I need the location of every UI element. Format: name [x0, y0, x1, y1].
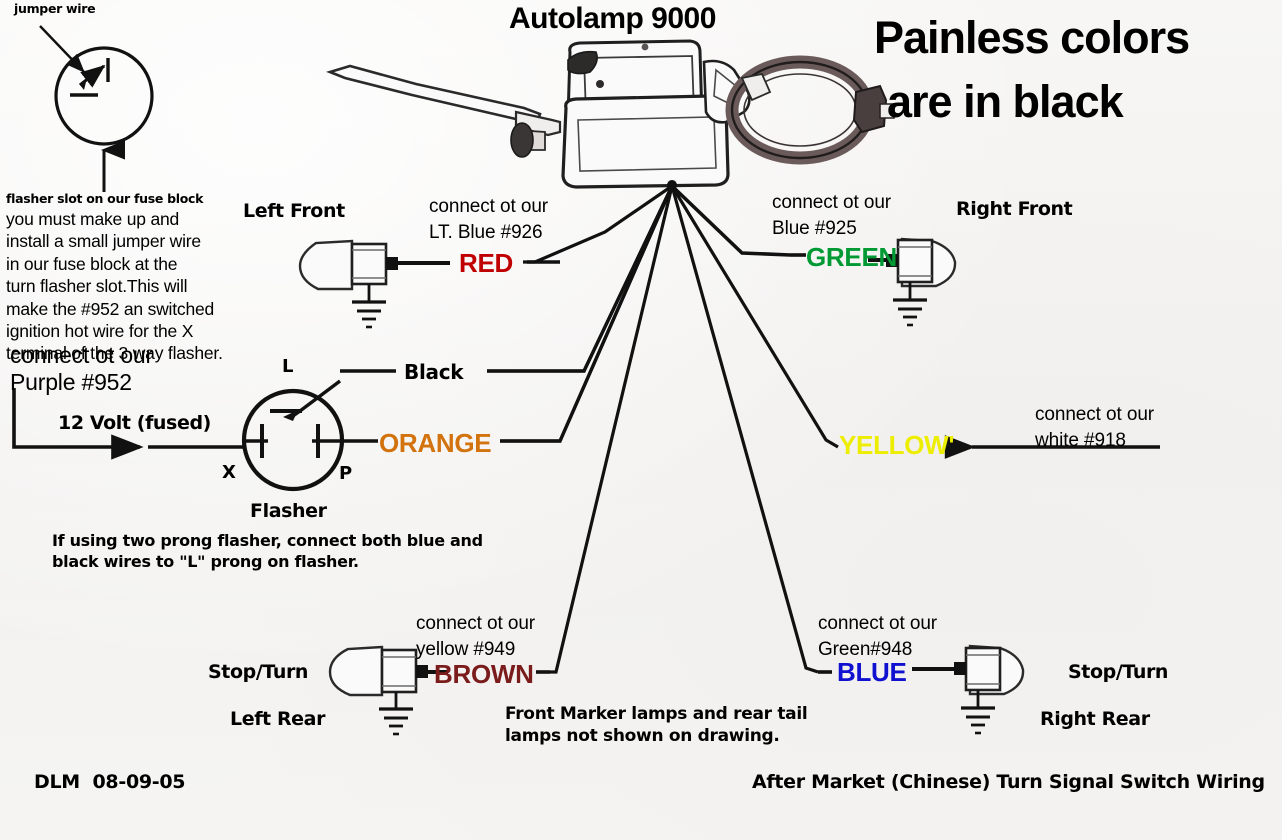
lamp-label-left-rear-function: Stop/Turn [208, 662, 308, 683]
white-918-connect-line2: white #918 [1035, 428, 1126, 453]
wire-color-brown: BROWN [434, 660, 534, 689]
harness-junction [667, 180, 677, 190]
lamp-label-right-rear-function: Stop/Turn [1068, 662, 1168, 683]
left-front-connect-line1: connect ot our [429, 194, 548, 219]
flasher-label: Flasher [250, 501, 327, 522]
headline-line-2: are in black [887, 78, 1123, 127]
flasher-can-icon [244, 381, 345, 489]
wire-color-red: RED [459, 249, 513, 278]
jumper-wire-label: jumper wire [14, 2, 95, 16]
flasher-terminal-p: P [339, 464, 352, 484]
white-918-connect-line1: connect ot our [1035, 402, 1154, 427]
page-title: Autolamp 9000 [509, 2, 716, 36]
supply-label: 12 Volt (fused) [58, 413, 211, 434]
lamp-label-right-rear-position: Right Rear [1040, 709, 1150, 730]
wire-color-orange: ORANGE [379, 429, 491, 458]
wire-color-green: GREEN [806, 243, 897, 272]
fuse-slot-caption-bold: flasher slot on our fuse block [6, 192, 203, 206]
lamp-bulb-icon-right-rear [912, 646, 1023, 733]
lamp-label-left-front: Left Front [243, 201, 345, 222]
lamp-label-right-front: Right Front [956, 199, 1072, 220]
headline-line-1: Painless colors [874, 14, 1189, 63]
turn-signal-switch-icon [330, 41, 894, 187]
lamp-bulb-icon-left-front [300, 241, 450, 327]
left-rear-connect-line1: connect ot our [416, 611, 535, 636]
purple-952-label-line2: Purple #952 [10, 368, 132, 398]
lamp-label-left-rear-position: Left Rear [230, 709, 325, 730]
wiring-diagram-canvas: jumper wire flasher slot on our fuse blo… [0, 0, 1282, 840]
right-rear-connect-line1: connect ot our [818, 611, 937, 636]
wire-color-black: Black [404, 361, 463, 383]
flasher-note: If using two prong flasher, connect both… [52, 531, 522, 573]
right-front-connect-line2: Blue #925 [772, 216, 857, 241]
flasher-terminal-x: X [222, 463, 236, 483]
footer-left: DLM 08-09-05 [34, 772, 185, 793]
footer-right: After Market (Chinese) Turn Signal Switc… [752, 772, 1265, 793]
left-front-connect-line2: LT. Blue #926 [429, 220, 543, 245]
fuse-block-slot-icon [56, 48, 152, 144]
marker-lamps-note: Front Marker lamps and rear tail lamps n… [505, 703, 865, 747]
jumper-wire-leader [40, 26, 84, 72]
right-front-connect-line1: connect ot our [772, 190, 891, 215]
switch-wire-harness [487, 186, 838, 672]
purple-952-label-line1: connect ot our [10, 341, 153, 371]
flasher-terminal-l: L [282, 357, 293, 377]
wire-color-blue: BLUE [837, 658, 907, 687]
wire-color-yellow: YELLOW' [839, 431, 954, 460]
